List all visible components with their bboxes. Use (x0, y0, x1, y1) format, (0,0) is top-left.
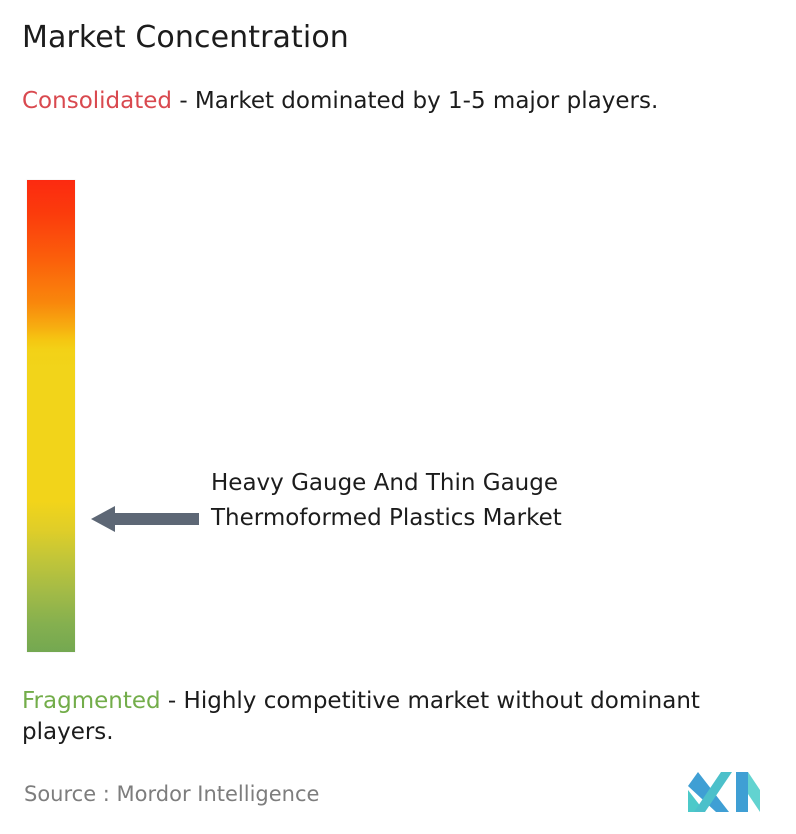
concentration-spectrum-bar (27, 180, 75, 652)
left-arrow-icon (91, 504, 199, 534)
mordor-intelligence-logo (688, 768, 760, 812)
market-label: Heavy Gauge And Thin Gauge Thermoformed … (211, 466, 631, 536)
legend-consolidated: Consolidated - Market dominated by 1-5 m… (22, 86, 762, 117)
legend-consolidated-term: Consolidated (22, 88, 172, 114)
legend-consolidated-description: - Market dominated by 1-5 major players. (172, 88, 658, 114)
legend-fragmented-term: Fragmented (22, 688, 161, 714)
page-title: Market Concentration (22, 20, 349, 55)
spectrum-gradient-fill (27, 180, 75, 652)
source-note: Source : Mordor Intelligence (24, 782, 319, 806)
legend-fragmented: Fragmented - Highly competitive market w… (22, 686, 784, 748)
